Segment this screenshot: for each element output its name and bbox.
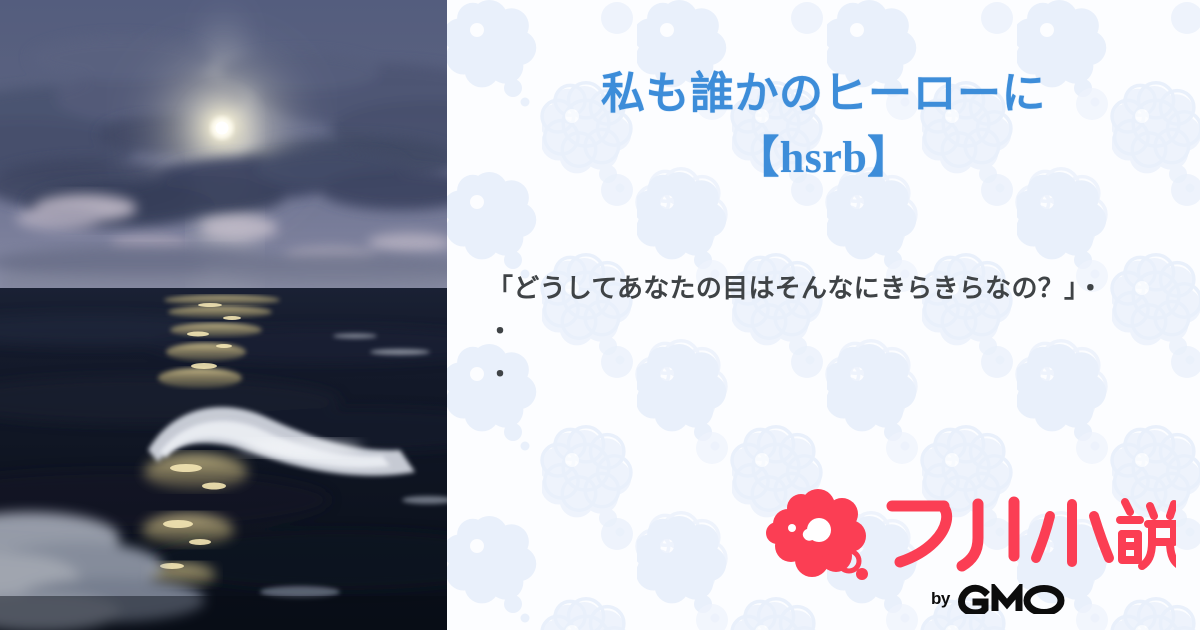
cover-image (0, 0, 447, 630)
novel-description: 「どうしてあなたの目はそんなにきらきらなの？」・ ・ ・ (487, 268, 1152, 397)
novel-title: 私も誰かのヒーローに 【hsrb】 (447, 62, 1200, 190)
share-card: 私も誰かのヒーローに 【hsrb】 「どうしてあなたの目はそんなにきらきらなの？… (0, 0, 1200, 630)
by-label: by (931, 589, 950, 609)
brand-lockup: by (746, 486, 1176, 614)
info-panel: 私も誰かのヒーローに 【hsrb】 「どうしてあなたの目はそんなにきらきらなの？… (447, 0, 1200, 630)
by-gmo-lockup: by (746, 584, 1176, 614)
gmo-logo (954, 584, 1066, 614)
moon-ocean-illustration (0, 0, 447, 630)
thought-cloud-icon (764, 486, 876, 582)
puri-shousetsu-wordmark (886, 490, 1176, 578)
